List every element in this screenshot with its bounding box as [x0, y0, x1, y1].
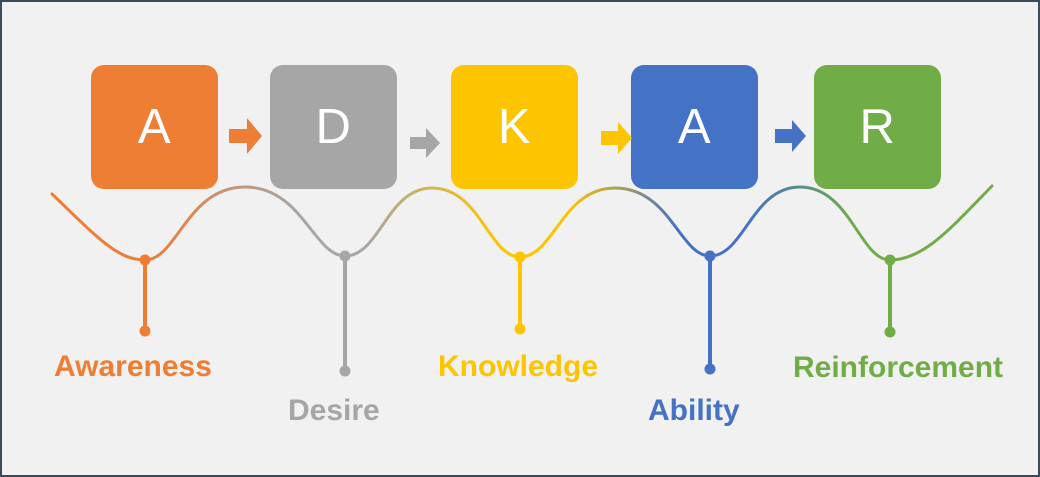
marker-ability — [705, 251, 716, 375]
stage-box-desire[interactable]: D — [270, 65, 397, 189]
arrow-ability-to-reinforcement-icon — [775, 120, 806, 152]
marker-reinforcement — [885, 255, 896, 338]
marker-knowledge — [515, 252, 526, 335]
stage-box-reinforcement[interactable]: R — [814, 65, 941, 189]
stage-label-awareness: Awareness — [54, 352, 212, 382]
stage-box-ability[interactable]: A — [631, 65, 758, 189]
stage-box-awareness[interactable]: A — [91, 65, 218, 189]
stage-label-ability: Ability — [648, 396, 740, 426]
stage-letter-desire: D — [316, 103, 352, 152]
stage-letter-knowledge: K — [498, 103, 531, 152]
stage-label-knowledge: Knowledge — [438, 352, 598, 382]
adkar-wave-path — [52, 186, 992, 260]
stage-letter-reinforcement: R — [860, 103, 896, 152]
stage-label-reinforcement: Reinforcement — [793, 353, 1003, 383]
stage-letter-ability: A — [678, 103, 711, 152]
adkar-diagram-canvas: A D K A R Awareness Desire Knowledge Abi… — [0, 0, 1040, 477]
arrow-knowledge-to-ability-icon — [601, 122, 632, 154]
marker-awareness — [140, 255, 151, 337]
arrow-awareness-to-desire-icon — [229, 118, 262, 154]
stage-label-desire: Desire — [288, 396, 380, 426]
stage-letter-awareness: A — [138, 103, 171, 152]
marker-desire — [340, 251, 351, 377]
stage-box-knowledge[interactable]: K — [451, 65, 578, 189]
arrow-desire-to-knowledge-icon — [410, 128, 440, 158]
